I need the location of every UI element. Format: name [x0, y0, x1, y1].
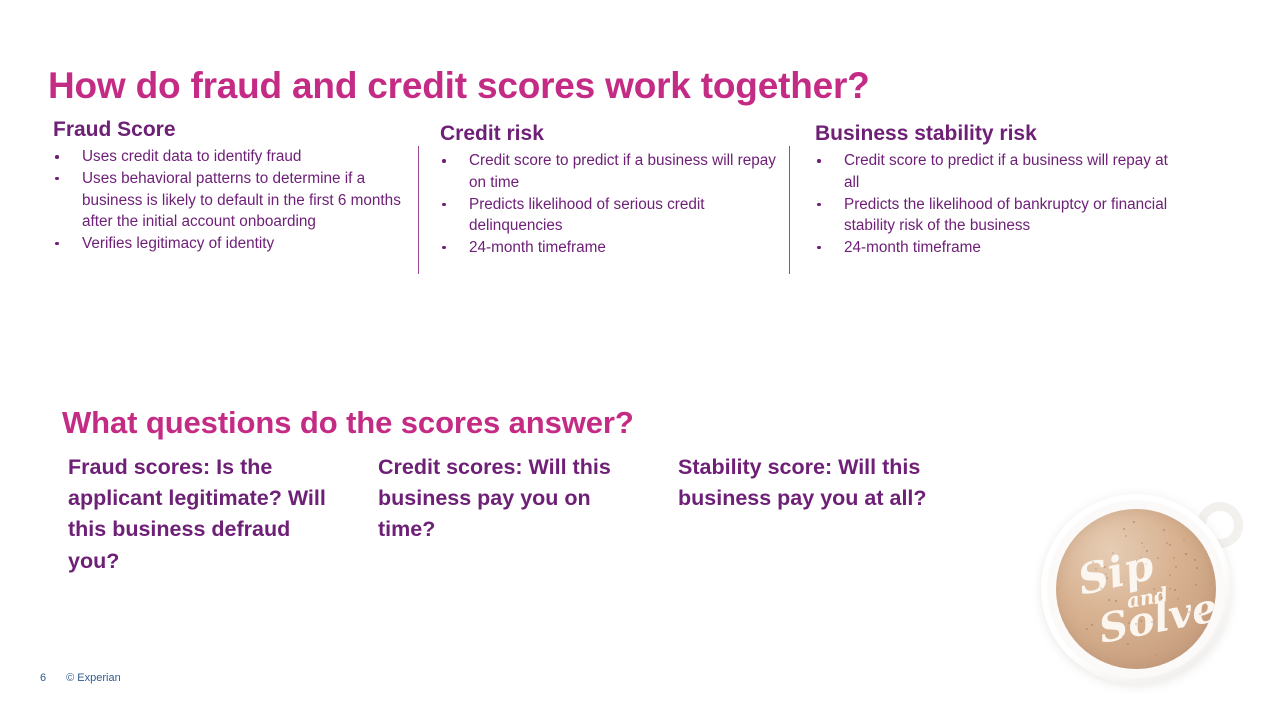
latte-art-text: Sip and Solve [1056, 509, 1216, 669]
answer-fraud-scores: Fraud scores: Is the applicant legitimat… [68, 452, 333, 577]
coffee-speck [1175, 566, 1177, 568]
coffee-speck [1112, 552, 1114, 554]
coffee-speck [1183, 539, 1185, 541]
bullet-list: Uses credit data to identify fraud Uses … [53, 146, 418, 255]
coffee-speck [1100, 587, 1102, 589]
coffee-speck [1135, 623, 1137, 625]
coffee-speck [1108, 599, 1110, 601]
coffee-speck [1169, 544, 1171, 546]
sip-and-solve-logo: Sip and Solve [1035, 488, 1247, 684]
column-heading: Credit risk [440, 122, 785, 145]
column-fraud-score: Fraud Score Uses credit data to identify… [53, 118, 418, 255]
column-divider-1 [418, 146, 419, 274]
coffee-speck [1196, 567, 1198, 569]
coffee-surface: Sip and Solve [1056, 509, 1216, 669]
coffee-speck [1166, 542, 1168, 544]
coffee-speck [1127, 643, 1129, 645]
page-number: 6 [40, 672, 46, 684]
section-title-questions: What questions do the scores answer? [62, 405, 634, 441]
bullet-item: Credit score to predict if a business wi… [440, 150, 785, 193]
coffee-speck [1155, 593, 1157, 595]
column-business-stability-risk: Business stability risk Credit score to … [815, 118, 1180, 259]
footer: 6© Experian [40, 672, 121, 684]
copyright-notice: © Experian [66, 672, 121, 684]
coffee-speck [1143, 546, 1145, 548]
coffee-speck [1128, 622, 1130, 624]
bullet-item: Uses credit data to identify fraud [53, 146, 418, 168]
page-title: How do fraud and credit scores work toge… [48, 65, 870, 107]
coffee-speck [1125, 535, 1127, 537]
score-types-section: Fraud Score Uses credit data to identify… [0, 118, 1280, 298]
bullet-item: 24-month timeframe [440, 237, 785, 259]
coffee-speck [1194, 559, 1196, 561]
bullet-item: 24-month timeframe [815, 237, 1180, 259]
coffee-speck [1169, 574, 1171, 576]
coffee-speck [1145, 563, 1147, 565]
bullet-item: Predicts the likelihood of bankruptcy or… [815, 194, 1180, 237]
coffee-speck [1141, 542, 1143, 544]
bullet-item: Uses behavioral patterns to determine if… [53, 168, 418, 233]
bullet-list: Credit score to predict if a business wi… [440, 150, 785, 259]
column-heading: Business stability risk [815, 122, 1180, 145]
bullet-item: Credit score to predict if a business wi… [815, 150, 1180, 193]
bullet-item: Verifies legitimacy of identity [53, 233, 418, 255]
bullet-list: Credit score to predict if a business wi… [815, 150, 1180, 259]
coffee-speck [1092, 561, 1094, 563]
slide-canvas: How do fraud and credit scores work toge… [0, 0, 1280, 720]
column-divider-2 [789, 146, 790, 274]
coffee-speck [1095, 568, 1097, 570]
column-heading: Fraud Score [53, 118, 418, 141]
bullet-item: Predicts likelihood of serious credit de… [440, 194, 785, 237]
answer-credit-scores: Credit scores: Will this business pay yo… [378, 452, 626, 546]
column-credit-risk: Credit risk Credit score to predict if a… [440, 118, 785, 259]
answer-stability-score: Stability score: Will this business pay … [678, 452, 936, 514]
coffee-speck [1185, 553, 1187, 555]
